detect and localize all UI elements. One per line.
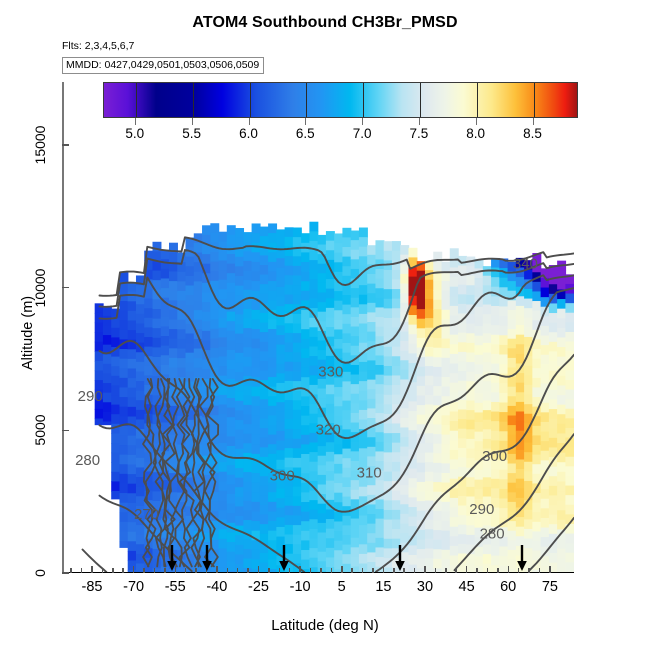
x-axis-tick-label: 5 — [338, 579, 346, 595]
x-axis-tick — [133, 566, 135, 573]
y-axis-tick — [62, 572, 69, 574]
profile-marker — [516, 545, 528, 578]
x-axis-minor-tick — [310, 568, 312, 573]
x-axis-minor-tick — [351, 568, 353, 573]
x-axis-tick — [341, 566, 343, 573]
y-axis-tick-label: 0 — [32, 569, 48, 577]
axis-line-left — [62, 82, 64, 573]
contour-label: 290 — [78, 388, 103, 405]
x-axis-minor-tick — [143, 568, 145, 573]
x-axis-minor-tick — [528, 568, 530, 573]
y-axis-tick — [62, 144, 69, 146]
x-axis-tick-label: -55 — [165, 579, 186, 595]
x-axis-minor-tick — [268, 568, 270, 573]
x-axis-tick-label: -40 — [206, 579, 227, 595]
x-axis-minor-tick — [227, 568, 229, 573]
y-axis-title: Altitude (m) — [20, 295, 36, 369]
page-title: ATOM4 Southbound CH3Br_PMSD — [0, 14, 650, 32]
x-axis-minor-tick — [185, 568, 187, 573]
x-axis-tick — [424, 566, 426, 573]
x-axis-tick-label: -70 — [123, 579, 144, 595]
x-axis-minor-tick — [237, 568, 239, 573]
x-axis-minor-tick — [539, 568, 541, 573]
contour-label: 280 — [75, 452, 100, 469]
contour-label: 270 — [134, 506, 159, 523]
heatmap-canvas: 340330320310300300290290280280270 — [62, 82, 574, 573]
plot-area: 340330320310300300290290280280270 — [62, 82, 574, 573]
x-axis-tick — [549, 566, 551, 573]
x-axis-minor-tick — [362, 568, 364, 573]
x-axis-tick — [216, 566, 218, 573]
profile-marker — [166, 545, 178, 578]
x-axis-minor-tick — [122, 568, 124, 573]
contour-label: 300 — [482, 448, 507, 465]
profile-marker — [278, 545, 290, 578]
x-axis-tick-label: -10 — [290, 579, 311, 595]
contour-label: 300 — [270, 468, 295, 485]
x-axis-tick — [91, 566, 93, 573]
x-axis-tick — [508, 566, 510, 573]
contour-label: 280 — [480, 526, 505, 543]
x-axis-minor-tick — [112, 568, 114, 573]
contour-label: 330 — [318, 364, 343, 381]
x-axis-tick-label: 75 — [542, 579, 558, 595]
profile-marker — [201, 545, 213, 578]
x-axis-tick-label: 15 — [375, 579, 391, 595]
x-axis-minor-tick — [195, 568, 197, 573]
x-axis-tick-label: 30 — [417, 579, 433, 595]
contour-label: 320 — [316, 422, 341, 439]
contour-label: 290 — [469, 501, 494, 518]
x-axis-minor-tick — [81, 568, 83, 573]
x-axis-minor-tick — [70, 568, 72, 573]
x-axis-tick — [258, 566, 260, 573]
x-axis-minor-tick — [247, 568, 249, 573]
x-axis-minor-tick — [487, 568, 489, 573]
data-field: 340330320310300300290290280280270 — [62, 82, 574, 573]
x-axis-minor-tick — [154, 568, 156, 573]
x-axis-minor-tick — [414, 568, 416, 573]
figure-root: ATOM4 Southbound CH3Br_PMSD Flts: 2,3,4,… — [0, 0, 650, 650]
x-axis-tick — [466, 566, 468, 573]
x-axis-minor-tick — [320, 568, 322, 573]
dates-label: MMDD: 0427,0429,0501,0503,0506,0509 — [62, 57, 264, 74]
flights-label: Flts: 2,3,4,5,6,7 — [62, 40, 134, 52]
x-axis-tick — [383, 566, 385, 573]
profile-marker — [394, 545, 406, 578]
x-axis-tick-label: -25 — [248, 579, 269, 595]
x-axis-title: Latitude (deg N) — [0, 617, 650, 634]
x-axis-tick-label: 60 — [500, 579, 516, 595]
x-axis-tick-label: -85 — [82, 579, 103, 595]
x-axis-minor-tick — [497, 568, 499, 573]
x-axis-minor-tick — [372, 568, 374, 573]
x-axis-tick — [299, 566, 301, 573]
x-axis-minor-tick — [476, 568, 478, 573]
x-axis-minor-tick — [445, 568, 447, 573]
x-axis-minor-tick — [102, 568, 104, 573]
contour-label: 340 — [513, 256, 538, 273]
x-axis-minor-tick — [331, 568, 333, 573]
x-axis-minor-tick — [455, 568, 457, 573]
x-axis-minor-tick — [435, 568, 437, 573]
y-axis-tick — [62, 430, 69, 432]
y-axis-tick — [62, 287, 69, 289]
x-axis-tick-label: 45 — [459, 579, 475, 595]
y-axis-tick-label: 5000 — [32, 415, 48, 446]
y-axis-tick-label: 15000 — [32, 125, 48, 164]
contour-label: 310 — [357, 464, 382, 481]
